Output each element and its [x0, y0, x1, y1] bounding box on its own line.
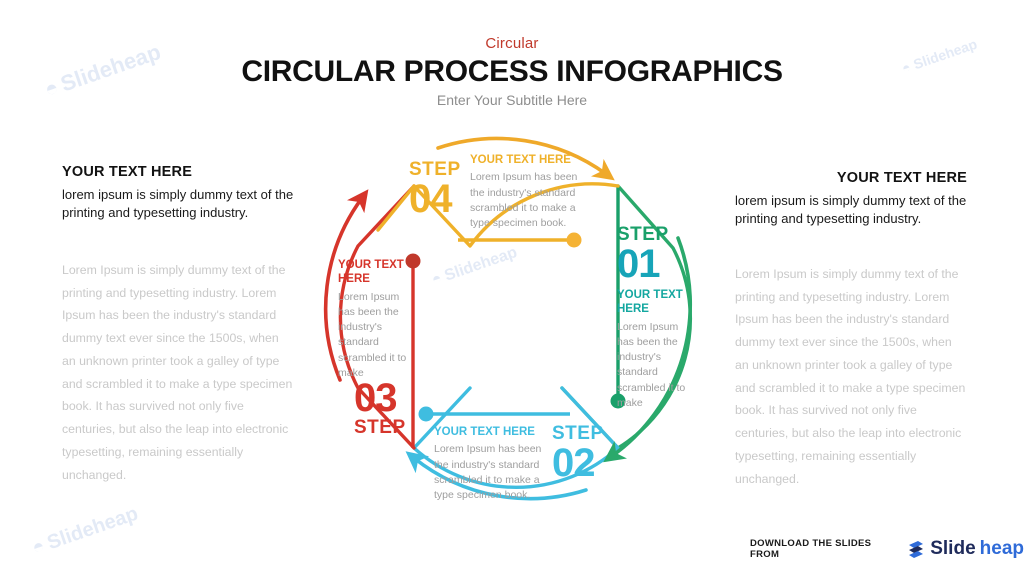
step-04-heading: YOUR TEXT HERE — [470, 153, 592, 167]
right-column-lead: lorem ipsum is simply dummy text of the … — [735, 192, 967, 229]
step-02-heading: YOUR TEXT HERE — [434, 425, 554, 439]
step-04-text-block: YOUR TEXT HERE Lorem Ipsum has been the … — [470, 153, 592, 231]
step-03-word: STEP — [354, 418, 406, 437]
right-text-column: YOUR TEXT HERE lorem ipsum is simply dum… — [735, 170, 967, 490]
step-03-label: 03 STEP — [354, 378, 406, 437]
brand-heap: heap — [980, 538, 1024, 560]
download-text: DOWNLOAD THE SLIDES FROM — [750, 538, 897, 560]
footer-branding: DOWNLOAD THE SLIDES FROM Slideheap — [750, 538, 1024, 560]
step-01-text-block: YOUR TEXT HERE Lorem Ipsum has been the … — [617, 288, 695, 411]
right-column-heading: YOUR TEXT HERE — [735, 170, 967, 186]
slide-subtitle: Enter Your Subtitle Here — [0, 92, 1024, 108]
slideheap-mark-icon — [906, 539, 926, 559]
left-column-lead: lorem ipsum is simply dummy text of the … — [62, 186, 294, 223]
watermark-text: Slideheap — [44, 503, 140, 555]
brand-slide: Slide — [930, 538, 975, 560]
slide-canvas: Circular CIRCULAR PROCESS INFOGRAPHICS E… — [0, 0, 1024, 576]
left-column-heading: YOUR TEXT HERE — [62, 164, 294, 180]
step-04-body: Lorem Ipsum has been the industry's stan… — [470, 170, 592, 231]
step-01-heading: YOUR TEXT HERE — [617, 288, 695, 317]
step-02-label: STEP 02 — [552, 424, 604, 483]
step-02-number: 02 — [552, 443, 604, 483]
left-column-body: Lorem Ipsum is simply dummy text of the … — [62, 259, 294, 486]
step-01-number: 01 — [617, 244, 669, 284]
step-03-text-block: YOUR TEXT HERE Lorem Ipsum has been the … — [338, 258, 412, 381]
left-text-column: YOUR TEXT HERE lorem ipsum is simply dum… — [62, 164, 294, 486]
right-column-body: Lorem Ipsum is simply dummy text of the … — [735, 263, 967, 490]
step-04-number: 04 — [409, 179, 461, 219]
step-01-label: STEP 01 — [617, 225, 669, 284]
step-03-body: Lorem Ipsum has been the industry's stan… — [338, 290, 412, 381]
step-02-body: Lorem Ipsum has been the industry's stan… — [434, 442, 554, 503]
watermark-bottom-left: ◓Slideheap — [29, 503, 141, 561]
step-04-label: STEP 04 — [409, 160, 461, 219]
step-03-heading: YOUR TEXT HERE — [338, 258, 412, 287]
segment-02-endpoint-dot — [419, 407, 434, 422]
step-02-text-block: YOUR TEXT HERE Lorem Ipsum has been the … — [434, 425, 554, 503]
step-01-body: Lorem Ipsum has been the industry's stan… — [617, 320, 695, 411]
segment-04-endpoint-dot — [567, 233, 582, 248]
slideheap-logo[interactable]: Slideheap — [906, 538, 1024, 560]
step-03-number: 03 — [354, 378, 406, 418]
